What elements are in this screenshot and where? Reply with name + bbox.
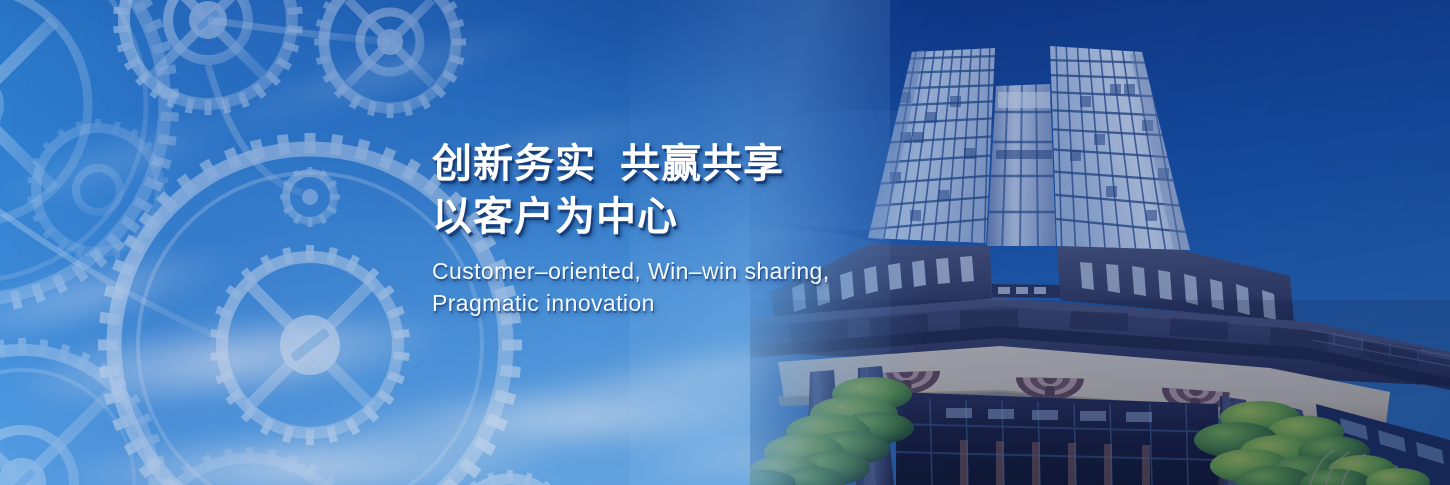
hero-banner: 创新务实共赢共享 以客户为中心 Customer–oriented, Win–w… (0, 0, 1450, 485)
headline-line-1: 创新务实共赢共享 (432, 138, 992, 191)
headline-part-1: 创新务实 (432, 142, 596, 186)
headline-line-2: 以客户为中心 (432, 191, 992, 244)
headline-part-2: 共赢共享 (620, 142, 784, 186)
subheadline-line-2: Pragmatic innovation (432, 285, 992, 321)
banner-copy: 创新务实共赢共享 以客户为中心 Customer–oriented, Win–w… (432, 138, 992, 321)
subheadline-line-1: Customer–oriented, Win–win sharing, (432, 253, 992, 289)
